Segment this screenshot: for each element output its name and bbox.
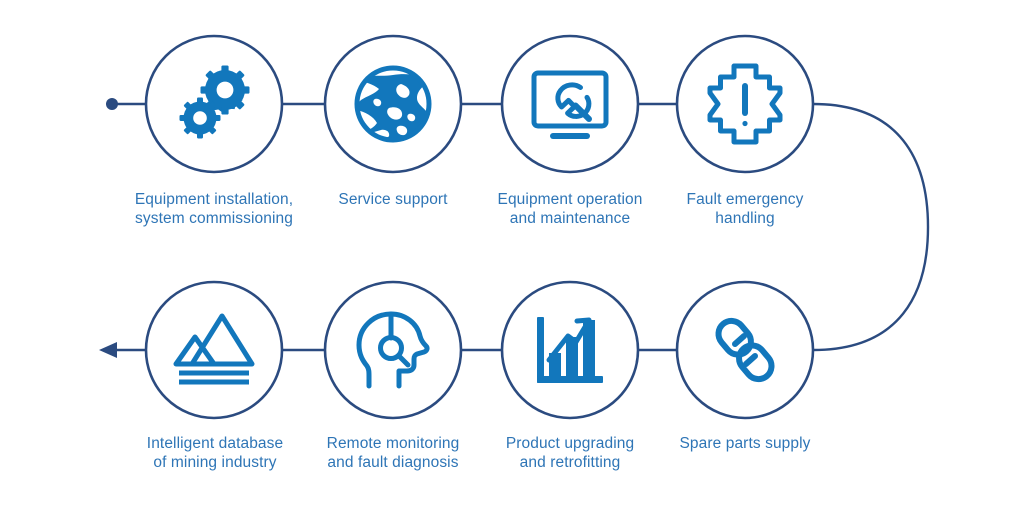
node-circle-remote-monitoring xyxy=(325,282,461,418)
start-dot-icon xyxy=(106,98,118,110)
node-circle-intelligent-database xyxy=(146,282,282,418)
connector-4-5-curve xyxy=(813,104,928,350)
end-arrowhead-icon xyxy=(99,342,117,358)
process-flow-diagram: Equipment installation, system commissio… xyxy=(0,0,1024,508)
globe-icon xyxy=(357,68,429,140)
flow-graphics xyxy=(0,0,1024,508)
